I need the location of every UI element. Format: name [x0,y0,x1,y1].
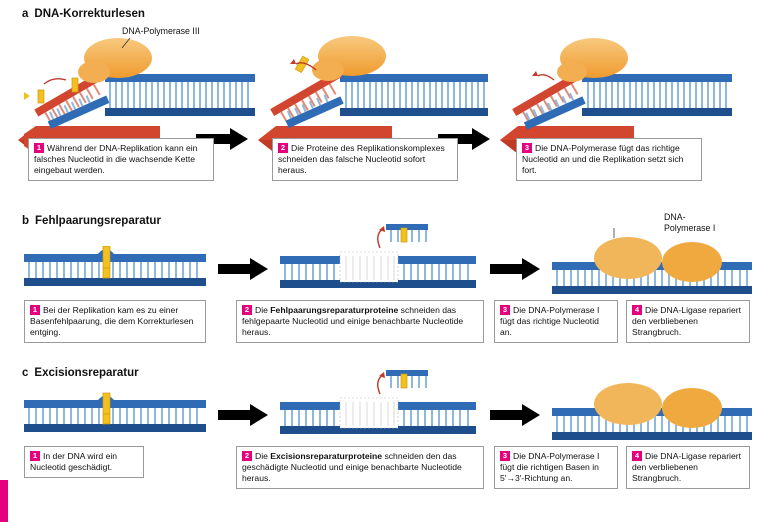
section-c-title: Excisionsreparatur [34,367,138,379]
page-accent-bar [0,480,8,522]
callout-a-3-text: Die DNA-Polymerase fügt das richtige Nuc… [522,143,683,175]
callout-c-3: 3Die DNA-Polymerase I fügt die richtigen… [494,446,618,489]
arrow-b-1 [218,258,270,280]
callout-a-3-number: 3 [522,143,532,153]
arrow-c-2 [490,404,542,426]
callout-b-4: 4Die DNA-Ligase repariert den verblieben… [626,300,750,343]
callout-c-1-number: 1 [30,451,40,461]
section-b-heading: b Fehlpaarungsreparatur [22,215,161,227]
panel-b3-graphic [552,228,752,300]
callout-b-1: 1Bei der Replikation kam es zu einer Bas… [24,300,206,343]
panel-a1-enzyme-label: DNA-Polymerase III [122,26,200,37]
callout-c-4: 4Die DNA-Ligase repariert den verblieben… [626,446,750,489]
callout-b-2: 2Die Fehlpaarungsreparaturproteine schne… [236,300,484,343]
panel-b3-enzyme-label-line1: DNA- [664,212,715,223]
callout-b-4-text: Die DNA-Ligase repariert den verbliebene… [632,305,741,337]
callout-c-2: 2Die Excisionsreparaturproteine schneide… [236,446,484,489]
callout-b-2-prefix: Die [255,305,270,315]
section-a-title: DNA-Korrekturlesen [34,8,145,20]
panel-c1-graphic [24,392,206,438]
callout-b-3: 3Die DNA-Polymerase I fügt das richtige … [494,300,618,343]
callout-c-4-text: Die DNA-Ligase repariert den verbliebene… [632,451,741,483]
section-c-letter: c [22,367,28,379]
panel-c3-graphic [552,374,752,446]
section-b-letter: b [22,215,29,227]
section-a-letter: a [22,8,28,20]
callout-c-2-number: 2 [242,451,252,461]
figure-canvas: a DNA-Korrekturlesen [0,0,768,522]
callout-c-3-number: 3 [500,451,510,461]
callout-c-1: 1In der DNA wird ein Nucleotid geschädig… [24,446,144,478]
section-a-heading: a DNA-Korrekturlesen [22,8,145,20]
callout-a-1-number: 1 [34,143,44,153]
panel-b2-graphic [280,222,476,294]
callout-a-2: 2Die Proteine des Replikationskomplexes … [272,138,458,181]
panel-b1-graphic [24,246,206,292]
callout-b-4-number: 4 [632,305,642,315]
callout-b-1-number: 1 [30,305,40,315]
callout-c-2-prefix: Die [255,451,270,461]
section-b-title: Fehlpaarungsreparatur [35,215,161,227]
panel-a3-graphic [494,22,744,152]
panel-c2-graphic [280,368,476,440]
callout-c-4-number: 4 [632,451,642,461]
callout-c-3-text: Die DNA-Polymerase I fügt die richtigen … [500,451,599,483]
callout-b-1-text: Bei der Replikation kam es zu einer Base… [30,305,193,337]
callout-a-2-number: 2 [278,143,288,153]
callout-b-3-text: Die DNA-Polymerase I fügt das richtige N… [500,305,599,337]
panel-b3-enzyme-label: DNA- Polymerase I [664,212,715,234]
callout-b-2-bold: Fehlpaarungsreparaturproteine [270,305,398,315]
callout-b-3-number: 3 [500,305,510,315]
panel-b3-enzyme-label-line2: Polymerase I [664,223,715,234]
callout-a-1-text: Während der DNA-Replikation kann ein fal… [34,143,197,175]
callout-a-1: 1Während der DNA-Replikation kann ein fa… [28,138,214,181]
callout-a-3: 3Die DNA-Polymerase fügt das richtige Nu… [516,138,702,181]
arrow-c-1 [218,404,270,426]
callout-c-2-bold: Excisionsreparaturproteine [270,451,382,461]
section-c-heading: c Excisionsreparatur [22,367,139,379]
arrow-b-2 [490,258,542,280]
callout-b-2-number: 2 [242,305,252,315]
callout-a-2-text: Die Proteine des Replikationskomplexes s… [278,143,445,175]
callout-c-1-text: In der DNA wird ein Nucleotid geschädigt… [30,451,117,472]
